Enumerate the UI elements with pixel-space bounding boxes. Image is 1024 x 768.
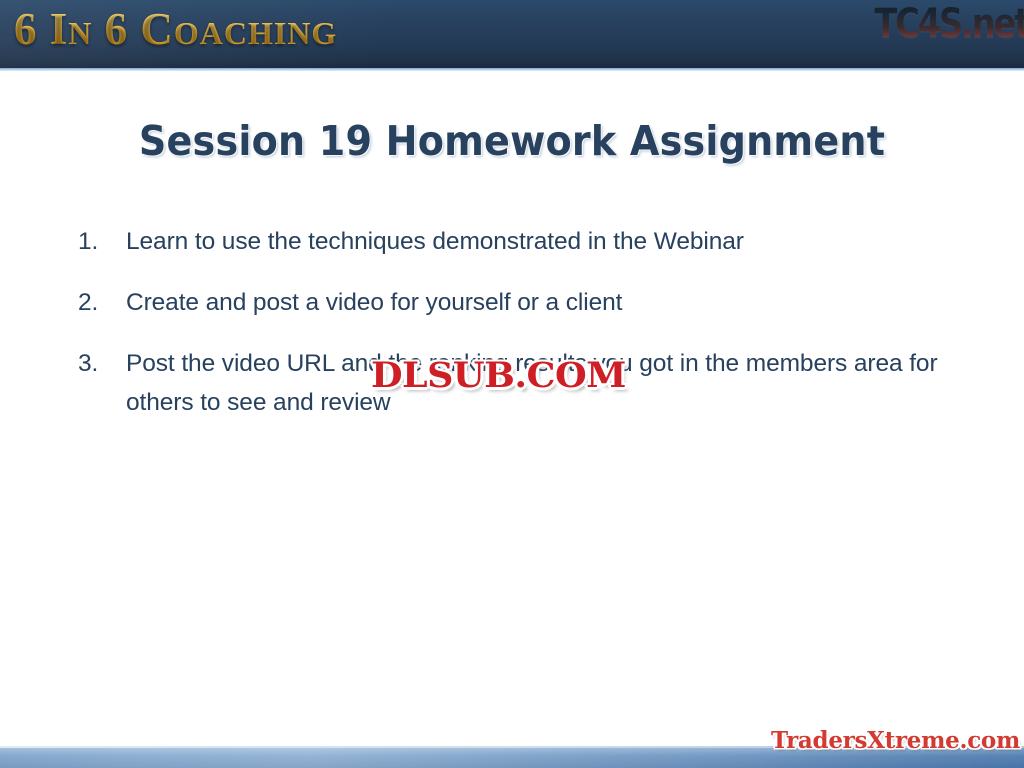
tradersxtreme-watermark: TradersXtreme.com [771, 727, 1020, 754]
list-item-text: Learn to use the techniques demonstrated… [126, 222, 958, 261]
dlsub-watermark: DLSUB.COM [371, 358, 626, 394]
list-item-marker: 2. [78, 283, 112, 322]
list-item-text: Create and post a video for yourself or … [126, 283, 958, 322]
list-item-marker: 3. [78, 344, 112, 383]
list-item: 1. Learn to use the techniques demonstra… [78, 222, 958, 261]
homework-list: 1. Learn to use the techniques demonstra… [78, 222, 958, 444]
brand-logo: 6 In 6 Coaching [14, 6, 337, 53]
page-title: Session 19 Homework Assignment [36, 117, 988, 165]
list-item-marker: 1. [78, 222, 112, 261]
slide-canvas: 6 In 6 Coaching TC4S.net Session 19 Home… [0, 0, 1024, 768]
list-item: 2. Create and post a video for yourself … [78, 283, 958, 322]
header-underline-divider [0, 68, 1024, 71]
tc4s-site-logo: TC4S.net [874, 1, 1024, 47]
slide-header-bar: 6 In 6 Coaching TC4S.net [0, 0, 1024, 68]
